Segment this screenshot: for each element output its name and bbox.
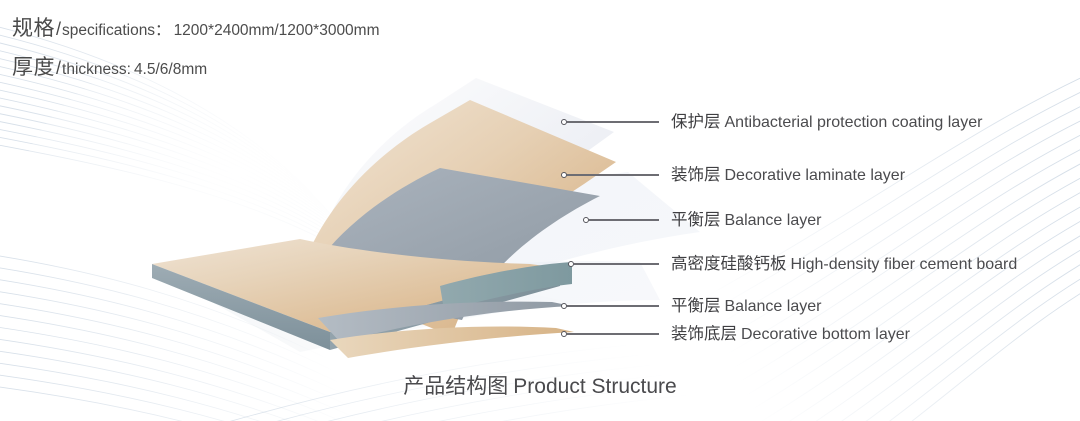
product-structure-infographic: 规格 / specifications： 1200*2400mm/1200*30…	[0, 0, 1080, 421]
callout-label-decorative-bottom-layer: 装饰底层Decorative bottom layer	[671, 326, 910, 343]
callout-fiber-cement-board: 高密度硅酸钙板High-density fiber cement board	[568, 254, 1017, 274]
callout-leader-line	[567, 174, 659, 175]
callout-label-cn: 高密度硅酸钙板	[671, 254, 787, 273]
callout-label-decorative-laminate: 装饰层Decorative laminate layer	[671, 167, 905, 184]
callout-label-fiber-cement-board: 高密度硅酸钙板High-density fiber cement board	[671, 256, 1017, 273]
callout-label-en: Antibacterial protection coating layer	[725, 114, 983, 131]
callout-label-balance-layer-top: 平衡层Balance layer	[671, 212, 821, 229]
callout-label-cn: 保护层	[671, 112, 721, 131]
callout-leader-line	[589, 219, 659, 220]
callout-label-balance-layer-bottom: 平衡层Balance layer	[671, 298, 821, 315]
callout-label-cn: 平衡层	[671, 296, 721, 315]
callout-decorative-bottom-layer: 装饰底层Decorative bottom layer	[561, 324, 910, 344]
callout-balance-layer-top: 平衡层Balance layer	[583, 210, 821, 230]
callout-label-en: Balance layer	[725, 298, 822, 315]
callout-group: 保护层Antibacterial protection coating laye…	[0, 0, 1080, 421]
callout-label-cn: 装饰底层	[671, 324, 737, 343]
callout-balance-layer-bottom: 平衡层Balance layer	[561, 296, 821, 316]
callout-leader-line	[567, 121, 659, 122]
callout-label-protection-coating: 保护层Antibacterial protection coating laye…	[671, 114, 982, 131]
callout-protection-coating: 保护层Antibacterial protection coating laye…	[561, 112, 982, 132]
callout-label-en: Decorative bottom layer	[741, 326, 910, 343]
figure-caption: 产品结构图Product Structure	[0, 370, 1080, 400]
callout-label-en: High-density fiber cement board	[791, 256, 1018, 273]
callout-label-cn: 平衡层	[671, 210, 721, 229]
callout-label-en: Decorative laminate layer	[725, 167, 906, 184]
callout-leader-line	[567, 333, 659, 334]
callout-leader-line	[574, 263, 659, 264]
caption-en: Product Structure	[513, 375, 676, 398]
callout-decorative-laminate: 装饰层Decorative laminate layer	[561, 165, 905, 185]
caption-cn: 产品结构图	[403, 374, 508, 398]
callout-label-cn: 装饰层	[671, 165, 721, 184]
callout-label-en: Balance layer	[725, 212, 822, 229]
callout-leader-line	[567, 305, 659, 306]
